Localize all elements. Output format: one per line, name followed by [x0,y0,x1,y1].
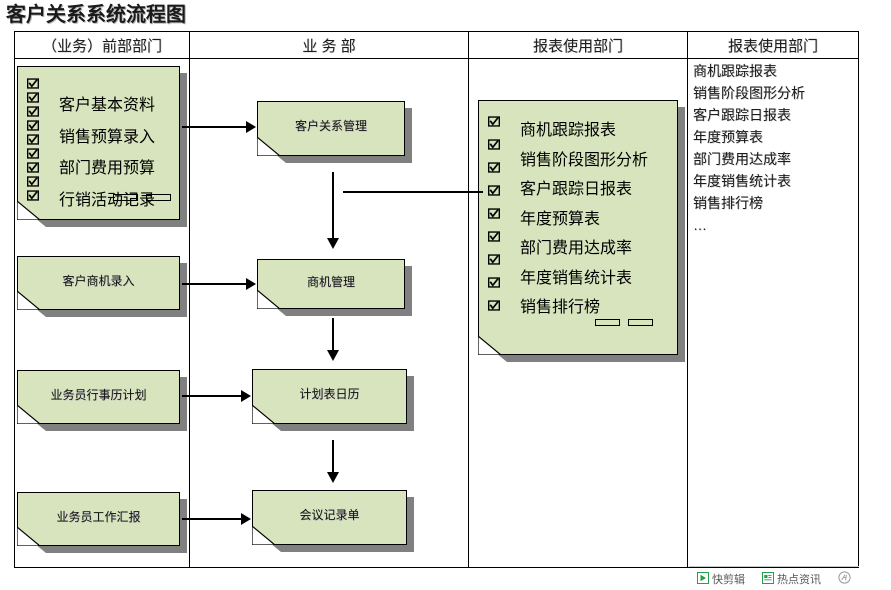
checklist-item-label: 部门费用预算 [59,153,155,185]
node-label: 客户关系管理 [257,101,405,156]
toolbar-item-redianzixun[interactable]: 热点资讯 [762,571,821,587]
connector-h-1 [182,126,248,128]
checkbox-checked-icon[interactable] [27,120,39,131]
news-green-icon [762,572,774,587]
node-label: 业务员工作汇报 [17,492,180,546]
toolbar-label-kuaijianji: 快剪辑 [712,571,745,587]
checkbox-checked-icon [488,162,500,173]
node-label: 计划表日历 [252,369,407,424]
checkbox-checked-icon [488,139,500,150]
checkbox-checked-icon [488,231,500,242]
node-label: 会议记录单 [252,490,407,545]
report-list-item: 销售阶段图形分析 [693,82,858,104]
toolbar-item-kuaijianji[interactable]: 快剪辑 [697,571,745,587]
column-divider-2 [468,31,469,568]
flowchart-page: 客户关系系统流程图 （业务）前部部门 业 务 部 报表使用部门 报表使用部门 客… [0,0,891,590]
column-header-3: 报表使用部门 [469,31,687,59]
bottom-toolbar[interactable]: 快剪辑 热点资讯 [697,571,851,587]
checkbox-checked-icon [27,190,39,201]
arrow-head-down-3 [327,472,339,483]
column-divider-3 [687,31,688,568]
arrow-head-4 [241,513,251,525]
node-salesperson-calendar-plan[interactable]: 业务员行事历计划 [17,370,180,424]
column-header-4: 报表使用部门 [688,31,858,59]
checkbox-checked-icon[interactable] [27,176,39,187]
checkbox-checked-icon [27,106,39,117]
report-list-item: 部门费用达成率 [693,148,858,170]
toolbar-label-redianzixun: 热点资讯 [777,571,821,587]
report-list-item: … [693,214,858,236]
checkbox-checked-icon[interactable] [488,231,500,242]
report-list-item: 年度预算表 [693,126,858,148]
report-list-item: 年度销售统计表 [693,170,858,192]
arrow-head-1 [246,121,256,133]
checklist-item-label: 销售排行榜 [520,293,648,323]
connector-h-3 [182,395,243,397]
arrow-head-3 [241,390,251,402]
checkbox-checked-icon [27,78,39,89]
checkbox-checked-icon [27,148,39,159]
checkbox-checked-icon[interactable] [488,208,500,219]
checkbox-checked-icon[interactable] [27,106,39,117]
column-divider-1 [189,31,190,568]
checkbox-checked-icon[interactable] [27,78,39,89]
checklist-item-label: 销售预算录入 [59,122,155,154]
checkbox-checked-icon[interactable] [488,254,500,265]
checklist-item-label: 销售阶段图形分析 [520,146,648,176]
checklist-labels: 商机跟踪报表销售阶段图形分析客户跟踪日报表年度预算表部门费用达成率年度销售统计表… [520,116,648,323]
arrow-head-down-2 [327,350,339,361]
checkbox-checked-icon[interactable] [27,92,39,103]
connector-h-2 [182,283,248,285]
node-reports-checklist[interactable]: 商机跟踪报表销售阶段图形分析客户跟踪日报表年度预算表部门费用达成率年度销售统计表… [478,100,678,355]
arrow-head-2 [246,278,256,290]
checkbox-checked-icon[interactable] [27,148,39,159]
checkbox-checked-icon [27,162,39,173]
checkbox-checked-icon [488,254,500,265]
checklist-item-label: 年度预算表 [520,205,648,235]
node-customer-input-checklist[interactable]: 客户基本资料销售预算录入部门费用预算行销活动记录 [17,66,180,220]
column-header-2: 业 务 部 [190,31,468,59]
checklist-item-label: 客户跟踪日报表 [520,175,648,205]
connector-v-2 [332,318,334,352]
checkbox-checked-icon [27,92,39,103]
node-customer-opportunity-entry[interactable]: 客户商机录入 [17,256,180,310]
node-meeting-minutes[interactable]: 会议记录单 [252,490,407,545]
report-list-item: 商机跟踪报表 [693,60,858,82]
checkbox-checked-icon[interactable] [488,185,500,196]
checkbox-checked-icon[interactable] [488,277,500,288]
checkbox-checked-icon [488,277,500,288]
checkbox-checked-icon[interactable] [488,162,500,173]
connector-v-3 [332,440,334,474]
arrow-head-down-1 [327,238,339,249]
checklist-item-label: 客户基本资料 [59,90,155,122]
node-crm-management[interactable]: 客户关系管理 [257,101,405,156]
checkbox-checked-icon [27,176,39,187]
checkbox-checked-icon [27,134,39,145]
checkbox-checked-icon[interactable] [488,116,500,127]
node-opportunity-management[interactable]: 商机管理 [257,259,405,309]
connector-h-4 [182,518,243,520]
checklist-item-label: 部门费用达成率 [520,234,648,264]
checkbox-checked-icon [27,120,39,131]
report-list-item: 销售排行榜 [693,192,858,214]
column-header-1: （业务）前部部门 [15,31,189,59]
connector-branch-to-reports [343,191,483,193]
checkbox-checked-icon[interactable] [27,190,39,201]
report-list-item: 客户跟踪日报表 [693,104,858,126]
node-plan-calendar[interactable]: 计划表日历 [252,369,407,424]
circled-mark-icon[interactable] [838,571,851,587]
checkbox-checked-icon[interactable] [27,162,39,173]
checklist-item-label: 行销活动记录 [59,185,155,217]
checkbox-checked-icon [488,116,500,127]
node-label: 商机管理 [257,259,405,309]
play-green-icon [697,572,709,587]
checklist-item-label: 年度销售统计表 [520,264,648,294]
checklist-labels: 客户基本资料销售预算录入部门费用预算行销活动记录 [59,90,155,216]
checkbox-checked-icon [488,185,500,196]
connector-v-1 [332,172,334,240]
node-label: 业务员行事历计划 [17,370,180,424]
checklist-item-label: 商机跟踪报表 [520,116,648,146]
toolbar-divider [689,566,859,567]
checkbox-checked-icon [488,300,500,311]
checklist-row[interactable] [27,76,172,90]
node-label: 客户商机录入 [17,256,180,310]
report-name-list: 商机跟踪报表销售阶段图形分析客户跟踪日报表年度预算表部门费用达成率年度销售统计表… [693,60,858,236]
checkbox-checked-icon[interactable] [488,139,500,150]
checkbox-checked-icon [488,208,500,219]
page-title: 客户关系系统流程图 [6,0,186,27]
checkbox-checked-icon[interactable] [27,134,39,145]
node-salesperson-work-report[interactable]: 业务员工作汇报 [17,492,180,546]
checkbox-checked-icon[interactable] [488,300,500,311]
